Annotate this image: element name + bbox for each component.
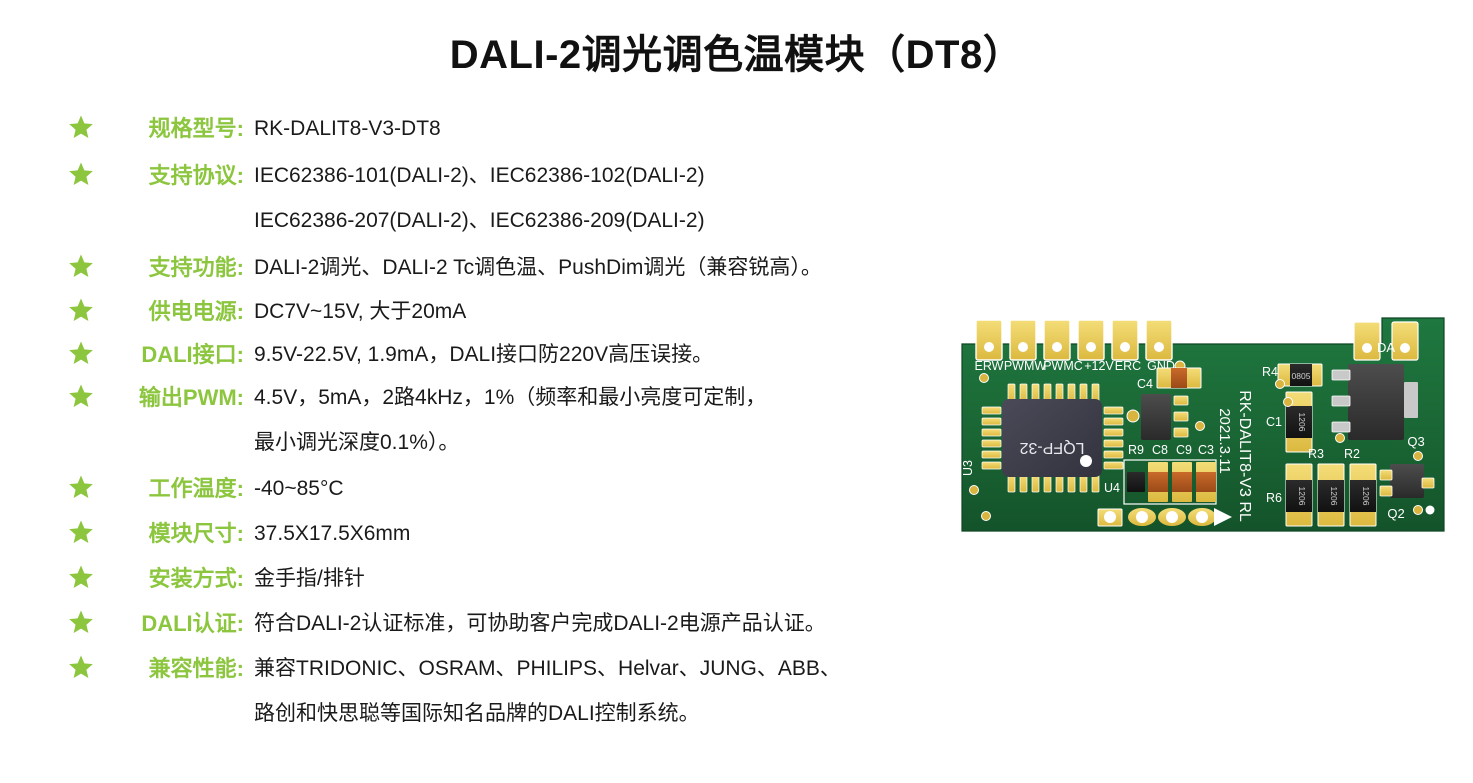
spec-row-mounting: 安装方式: 金手指/排针 [68,562,948,596]
spec-value-line: 符合DALI-2认证标准，可协助客户完成DALI-2电源产品认证。 [254,607,948,641]
pin-label-pwmw: PWMW [1004,359,1047,373]
spec-value-line: RK-DALIT8-V3-DT8 [254,112,948,146]
pcb-label-da: DA [1377,340,1395,355]
spec-row-dali-interface: DALI接口: 9.5V-22.5V, 1.9mA，DALI接口防220V高压误… [68,338,948,372]
pcb-label-u4: U4 [1104,481,1120,495]
spec-row-function: 支持功能: DALI-2调光、DALI-2 Tc调色温、PushDim调光（兼容… [68,251,948,285]
spec-value-protocol: IEC62386-101(DALI-2)、IEC62386-102(DALI-2… [254,159,948,238]
star-icon [68,519,94,545]
spec-label-compatibility: 兼容性能: [94,652,254,686]
spec-value-function: DALI-2调光、DALI-2 Tc调色温、PushDim调光（兼容锐高）。 [254,251,948,285]
pcb-board-image: ERW PWMW PWMC +12V ERC GND DA [952,306,1452,546]
pcb-label-q3: Q3 [1407,434,1424,449]
page-title: DALI-2调光调色温模块（DT8） [0,22,1473,80]
pcb-silkscreen-part: RK-DALIT8-V3 RL [1236,390,1253,522]
pcb-label-c3: C3 [1198,443,1214,457]
pin-label-erw: ERW [975,359,1004,373]
pcb-label-r3: R3 [1308,447,1324,461]
spec-value-line: 37.5X17.5X6mm [254,517,948,551]
spec-label-dali-certification: DALI认证: [94,607,254,641]
spec-label-pwm-output: 输出PWM: [94,381,254,415]
spec-label-operating-temperature: 工作温度: [94,472,254,506]
spec-label-protocol: 支持协议: [94,159,254,193]
specification-list: 规格型号: RK-DALIT8-V3-DT8 支持协议: IEC62386-10… [68,112,948,739]
pcb-label-lqfp32: LQFP-32 [1019,439,1084,456]
spec-value-model: RK-DALIT8-V3-DT8 [254,112,948,146]
star-icon [68,564,94,590]
pcb-silkscreen-date: 2021.3.11 [1216,408,1233,474]
spec-value-line: 9.5V-22.5V, 1.9mA，DALI接口防220V高压误接。 [254,338,948,372]
pin-label-erc: ERC [1115,359,1141,373]
star-icon [68,474,94,500]
spec-value-line: 4.5V，5mA，2路4kHz，1%（频率和最小亮度可定制， [254,381,948,415]
pcb-label-r2: R2 [1344,447,1360,461]
pcb-code-1206: 1206 [1361,487,1371,506]
spec-row-compatibility: 兼容性能: 兼容TRIDONIC、OSRAM、PHILIPS、Helvar、JU… [68,652,948,731]
spec-row-operating-temperature: 工作温度: -40~85°C [68,472,948,506]
spec-row-model: 规格型号: RK-DALIT8-V3-DT8 [68,112,948,146]
pcb-label-q2: Q2 [1387,506,1404,521]
star-icon [68,297,94,323]
spec-value-line: DALI-2调光、DALI-2 Tc调色温、PushDim调光（兼容锐高）。 [254,251,948,285]
spec-value-compatibility: 兼容TRIDONIC、OSRAM、PHILIPS、Helvar、JUNG、ABB… [254,652,948,731]
spec-value-line: 兼容TRIDONIC、OSRAM、PHILIPS、Helvar、JUNG、ABB… [254,652,948,686]
spec-label-module-size: 模块尺寸: [94,517,254,551]
spec-value-line: 金手指/排针 [254,562,948,596]
pcb-label-c9: C9 [1176,443,1192,457]
star-icon [68,609,94,635]
pcb-label-c4: C4 [1137,377,1153,391]
pcb-illustration: ERW PWMW PWMC +12V ERC GND DA [952,306,1452,546]
pcb-label-r4: R4 [1262,365,1278,379]
pcb-code-1206: 1206 [1329,487,1339,506]
pin-label-12v: +12V [1084,359,1114,373]
spec-label-power-supply: 供电电源: [94,295,254,329]
pcb-passive-row-2: 1206 1206 1206 [1286,464,1376,526]
pcb-label-u3: U3 [961,460,975,476]
spec-value-line: IEC62386-207(DALI-2)、IEC62386-209(DALI-2… [254,204,948,238]
spec-label-function: 支持功能: [94,251,254,285]
star-icon [68,253,94,279]
spec-label-model: 规格型号: [94,112,254,146]
spec-value-line: IEC62386-101(DALI-2)、IEC62386-102(DALI-2… [254,159,948,193]
spec-value-dali-certification: 符合DALI-2认证标准，可协助客户完成DALI-2电源产品认证。 [254,607,948,641]
star-icon [68,383,94,409]
spec-label-mounting: 安装方式: [94,562,254,596]
spec-value-line: -40~85°C [254,472,948,506]
pcb-code-1206: 1206 [1297,487,1307,506]
pcb-code-1206: 1206 [1297,413,1307,432]
pcb-label-c1: C1 [1266,415,1282,429]
spec-value-operating-temperature: -40~85°C [254,472,948,506]
spec-row-pwm-output: 输出PWM: 4.5V，5mA，2路4kHz，1%（频率和最小亮度可定制， 最小… [68,381,948,460]
star-icon [68,161,94,187]
spec-value-pwm-output: 4.5V，5mA，2路4kHz，1%（频率和最小亮度可定制， 最小调光深度0.1… [254,381,948,460]
pin-label-pwmc: PWMC [1043,359,1083,373]
pcb-label-r9: R9 [1128,443,1144,457]
spec-row-power-supply: 供电电源: DC7V~15V, 大于20mA [68,295,948,329]
pcb-code-0805: 0805 [1292,371,1311,381]
spec-value-line: DC7V~15V, 大于20mA [254,295,948,329]
pcb-label-r6: R6 [1266,491,1282,505]
star-icon [68,114,94,140]
star-icon [68,654,94,680]
spec-row-protocol: 支持协议: IEC62386-101(DALI-2)、IEC62386-102(… [68,159,948,238]
spec-row-module-size: 模块尺寸: 37.5X17.5X6mm [68,517,948,551]
pcb-bottom-pads [1098,508,1232,526]
spec-value-line: 最小调光深度0.1%）。 [254,426,948,460]
spec-value-mounting: 金手指/排针 [254,562,948,596]
spec-label-dali-interface: DALI接口: [94,338,254,372]
spec-value-module-size: 37.5X17.5X6mm [254,517,948,551]
spec-value-power-supply: DC7V~15V, 大于20mA [254,295,948,329]
spec-value-dali-interface: 9.5V-22.5V, 1.9mA，DALI接口防220V高压误接。 [254,338,948,372]
star-icon [68,340,94,366]
pcb-label-c8: C8 [1152,443,1168,457]
spec-row-dali-certification: DALI认证: 符合DALI-2认证标准，可协助客户完成DALI-2电源产品认证… [68,607,948,641]
spec-value-line: 路创和快思聪等国际知名品牌的DALI控制系统。 [254,697,948,731]
